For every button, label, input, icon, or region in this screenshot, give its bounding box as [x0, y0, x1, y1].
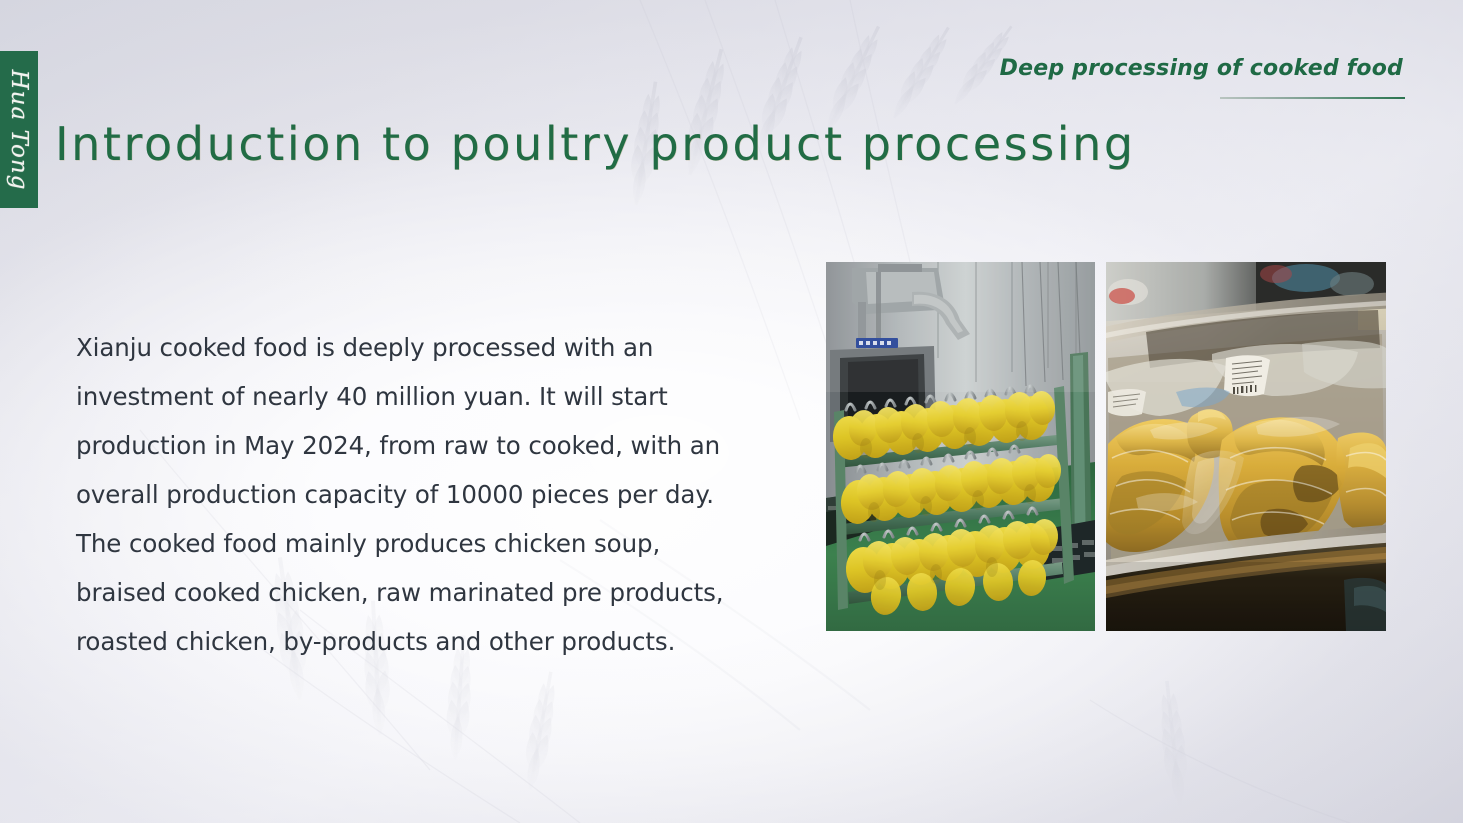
body-paragraph: Xianju cooked food is deeply processed w…: [76, 323, 728, 666]
brand-logo-text: Hua Tong: [6, 69, 32, 190]
vacuum-packed-chicken-photo: [1106, 262, 1386, 631]
page-title: Introduction to poultry product processi…: [55, 117, 1136, 171]
section-label: Deep processing of cooked food: [1000, 56, 1403, 81]
brand-logo-bar: Hua Tong: [0, 51, 38, 208]
chicken-rack-photo: [826, 262, 1095, 631]
slide-canvas: Hua Tong Deep processing of cooked food …: [0, 0, 1463, 823]
header-rule-divider: [1220, 97, 1405, 99]
